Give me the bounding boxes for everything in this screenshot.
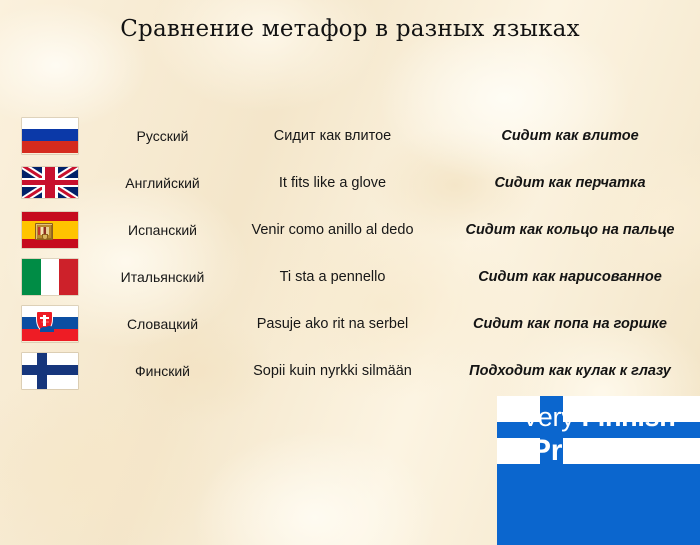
flag-cell [0, 212, 100, 248]
original-phrase: Venir como anillo al dedo [225, 222, 440, 238]
language-label: Английский [100, 175, 225, 191]
translated-phrase: Сидит как кольцо на пальце [440, 222, 700, 238]
table-row: Английский It fits like a glove Сидит ка… [0, 159, 700, 206]
flag-cell [0, 353, 100, 389]
original-phrase: It fits like a glove [225, 175, 440, 191]
table-row: Финский Sopii kuin nyrkki silmään Подход… [0, 347, 700, 394]
flag-russia [22, 118, 78, 154]
spain-coat-of-arms-icon [35, 223, 53, 240]
page-title: Сравнение метафор в разных языках [0, 16, 700, 42]
language-label: Испанский [100, 222, 225, 238]
flag-finland [22, 353, 78, 389]
translated-phrase: Подходит как кулак к глазу [440, 363, 700, 379]
language-label: Финский [100, 363, 225, 379]
original-phrase: Ti sta a pennello [225, 269, 440, 285]
flag-cell [0, 306, 100, 342]
translated-phrase: Сидит как нарисованное [440, 269, 700, 285]
original-phrase: Pasuje ako rit na serbel [225, 316, 440, 332]
logo-very-text: Very [522, 402, 582, 432]
translated-phrase: Сидит как попа на горшке [440, 316, 700, 332]
flag-united-kingdom [22, 167, 78, 198]
very-finnish-problems-logo: Very Finnish Problems [497, 396, 700, 545]
logo-finnish-text: Finnish [582, 402, 676, 432]
logo-text-band [497, 464, 700, 545]
translated-phrase: Сидит как перчатка [440, 175, 700, 191]
language-label: Итальянский [100, 269, 225, 285]
table-row: Русский Сидит как влитое Сидит как влито… [0, 112, 700, 159]
original-phrase: Sopii kuin nyrkki silmään [225, 363, 440, 379]
flag-cell [0, 167, 100, 198]
table-row: Итальянский Ti sta a pennello Сидит как … [0, 253, 700, 300]
flag-spain [22, 212, 78, 248]
logo-line-one: Very Finnish [497, 404, 700, 431]
logo-line-two: Problems [497, 436, 700, 466]
original-phrase: Сидит как влитое [225, 128, 440, 144]
metaphor-comparison-table: Русский Сидит как влитое Сидит как влито… [0, 112, 700, 394]
language-label: Русский [100, 128, 225, 144]
translated-phrase: Сидит как влитое [440, 128, 700, 144]
flag-italy [22, 259, 78, 295]
flag-slovakia [22, 306, 78, 342]
slide-background: Сравнение метафор в разных языках Русски… [0, 0, 700, 545]
language-label: Словацкий [100, 316, 225, 332]
flag-cell [0, 259, 100, 295]
slovakia-coat-of-arms-icon [36, 311, 53, 332]
table-row: Словацкий Pasuje ako rit na serbel Сидит… [0, 300, 700, 347]
table-row: Испанский Venir como anillo al dedo Сиди… [0, 206, 700, 253]
flag-cell [0, 118, 100, 154]
